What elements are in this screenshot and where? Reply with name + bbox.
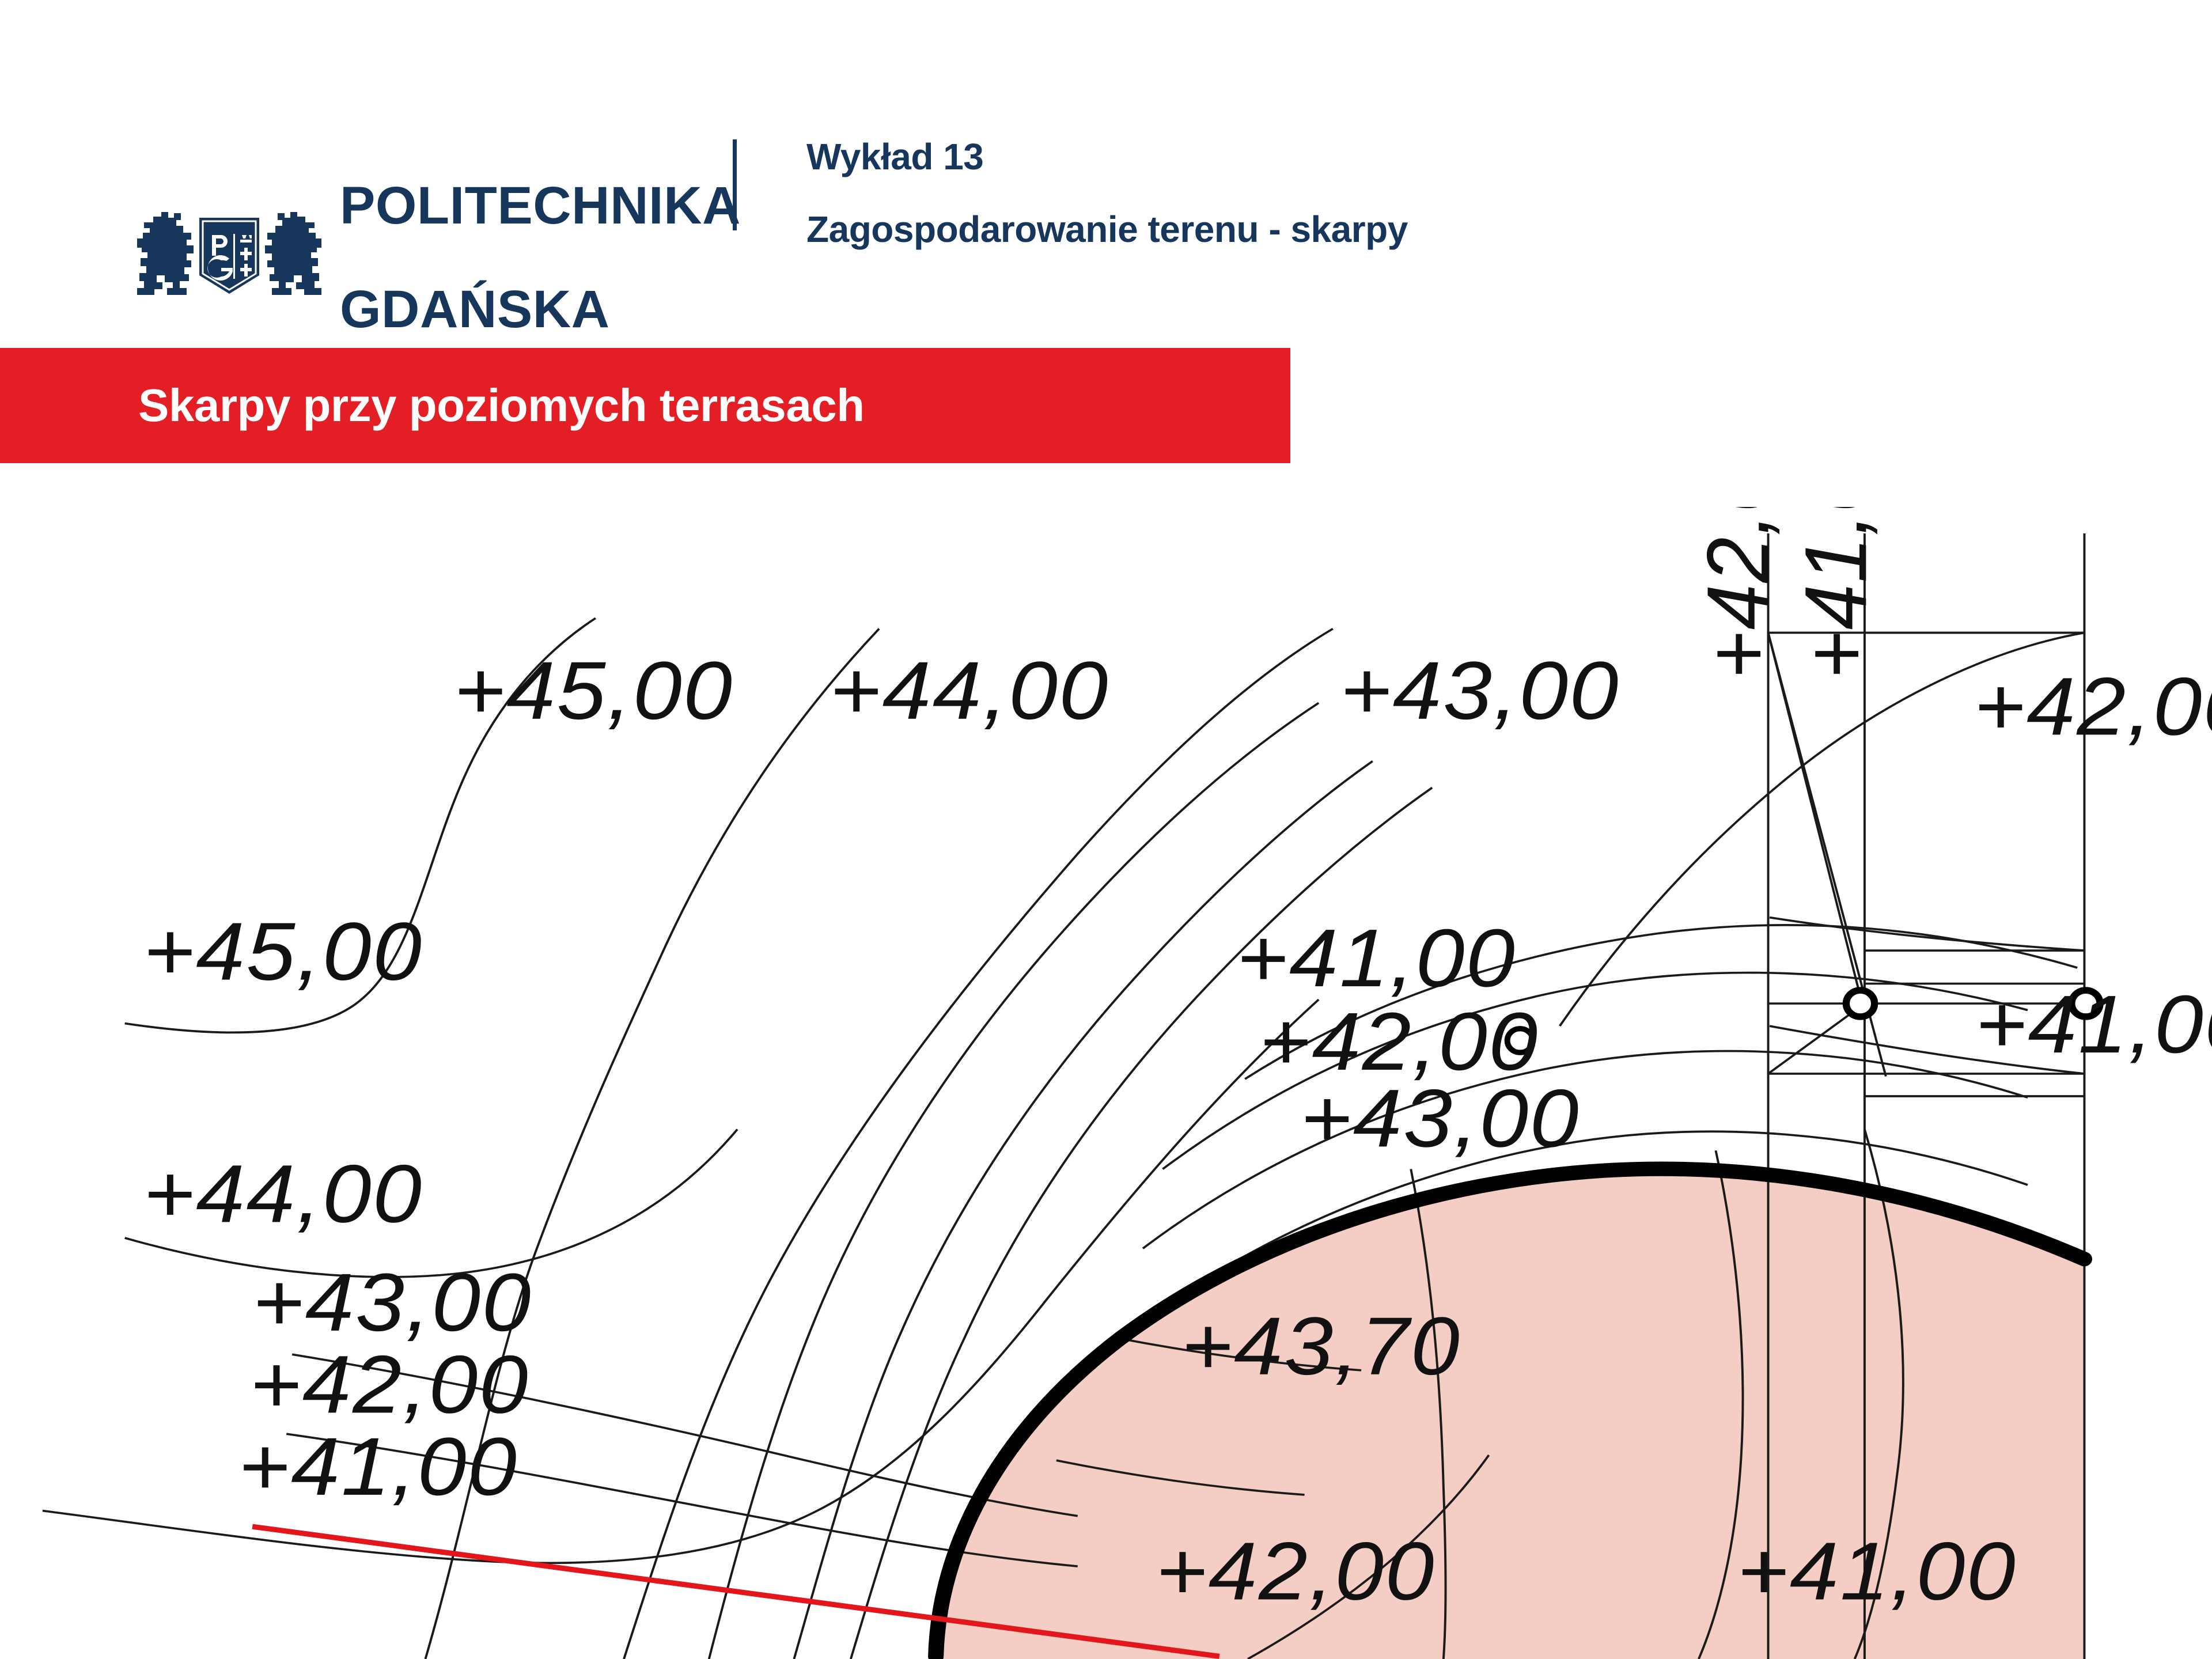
wordmark-line-2: GDAŃSKA	[340, 283, 741, 335]
elevation-label: +41,00	[238, 1421, 518, 1513]
elevation-label: +44,00	[829, 645, 1109, 736]
elevation-label: +43,00	[1300, 1073, 1580, 1164]
elevation-label: +42,00	[1156, 1525, 1435, 1617]
pg-logo	[131, 203, 327, 312]
elevation-label: +44,00	[143, 1148, 423, 1240]
elevation-label: +41,00	[1236, 912, 1516, 1004]
elevation-label: +42,00	[1974, 661, 2212, 752]
elevation-label: +45,00	[143, 906, 423, 997]
page-header: POLITECHNIKA GDAŃSKA Wykład 13 Zagospoda…	[0, 0, 2212, 328]
lecture-subject: Zagospodarowanie terenu - skarpy	[806, 211, 1408, 248]
header-divider	[733, 139, 737, 230]
technical-drawing: +45,00 +44,00 +43,00 +42,00 +41,00 +42,0…	[0, 507, 2212, 1659]
elevation-label: +45,00	[454, 645, 734, 736]
elevation-label: +43,70	[1181, 1300, 1461, 1392]
wordmark-line-1: POLITECHNIKA	[340, 180, 741, 232]
marker-point	[1846, 990, 1874, 1017]
contour-construction-diagram: +45,00 +44,00 +43,00 +42,00 +41,00 +42,0…	[0, 507, 2212, 1659]
elevation-label: +43,00	[252, 1257, 532, 1349]
elevation-label: +41,00	[1975, 979, 2212, 1070]
elevation-label-vertical: +42,00	[1689, 507, 1787, 679]
page-title: Skarpy przy poziomych terrasach	[138, 379, 865, 432]
elevation-label-vertical: +41,00	[1787, 507, 1885, 679]
elevation-label: +43,00	[1340, 645, 1620, 736]
elevation-label: +41,00	[1737, 1525, 2017, 1617]
header-text-block: Wykład 13 Zagospodarowanie terenu - skar…	[806, 138, 1408, 248]
section-title-banner: Skarpy przy poziomych terrasach	[0, 348, 1290, 463]
lecture-number: Wykład 13	[806, 138, 1408, 175]
elevation-label: +42,00	[249, 1339, 529, 1430]
